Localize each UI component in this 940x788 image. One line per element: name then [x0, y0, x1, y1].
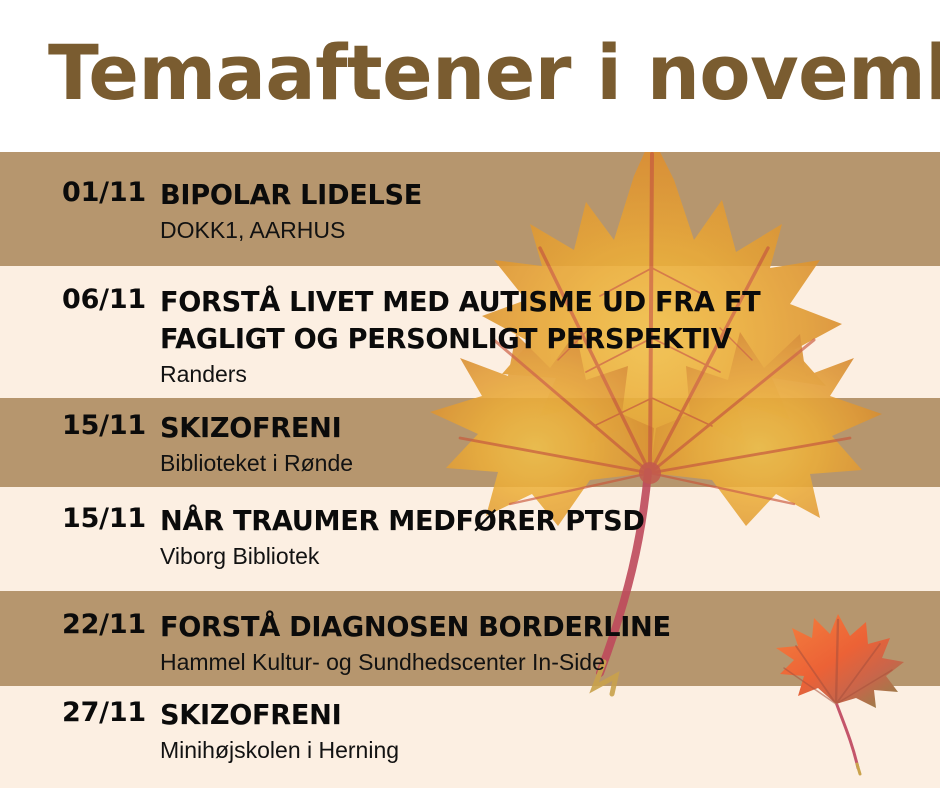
event-venue: DOKK1, AARHUS — [160, 215, 940, 246]
event-body: SKIZOFRENIMinihøjskolen i Herning — [160, 696, 940, 766]
page-title: Temaaftener i november — [48, 28, 940, 118]
event-venue: Biblioteket i Rønde — [160, 448, 940, 479]
schedule-row: 15/11NÅR TRAUMER MEDFØRER PTSDViborg Bib… — [0, 502, 940, 572]
event-date: 06/11 — [0, 283, 160, 317]
event-body: FORSTÅ LIVET MED AUTISME UD FRA ET FAGLI… — [160, 283, 940, 390]
schedule-row: 06/11FORSTÅ LIVET MED AUTISME UD FRA ET … — [0, 283, 940, 390]
event-title: SKIZOFRENI — [160, 696, 917, 733]
event-date: 22/11 — [0, 608, 160, 642]
schedule-row: 01/11BIPOLAR LIDELSEDOKK1, AARHUS — [0, 176, 940, 246]
event-body: FORSTÅ DIAGNOSEN BORDERLINEHammel Kultur… — [160, 608, 940, 678]
schedule-row: 27/11SKIZOFRENIMinihøjskolen i Herning — [0, 696, 940, 766]
event-title: NÅR TRAUMER MEDFØRER PTSD — [160, 502, 917, 539]
event-venue: Viborg Bibliotek — [160, 541, 940, 572]
event-venue: Hammel Kultur- og Sundhedscenter In-Side — [160, 647, 940, 678]
event-date: 15/11 — [0, 409, 160, 443]
schedule-row: 22/11FORSTÅ DIAGNOSEN BORDERLINEHammel K… — [0, 608, 940, 678]
header-band: Temaaftener i november — [0, 0, 940, 152]
event-body: NÅR TRAUMER MEDFØRER PTSDViborg Bibliote… — [160, 502, 940, 572]
event-date: 01/11 — [0, 176, 160, 210]
event-body: SKIZOFRENIBiblioteket i Rønde — [160, 409, 940, 479]
event-venue: Minihøjskolen i Herning — [160, 735, 940, 766]
event-title: BIPOLAR LIDELSE — [160, 176, 917, 213]
event-title: SKIZOFRENI — [160, 409, 917, 446]
event-title: FORSTÅ LIVET MED AUTISME UD FRA ET FAGLI… — [160, 283, 917, 357]
event-body: BIPOLAR LIDELSEDOKK1, AARHUS — [160, 176, 940, 246]
schedule-row: 15/11SKIZOFRENIBiblioteket i Rønde — [0, 409, 940, 479]
poster-canvas: Temaaftener i november 01/11BIPOLAR LIDE… — [0, 0, 940, 788]
event-date: 27/11 — [0, 696, 160, 730]
event-title: FORSTÅ DIAGNOSEN BORDERLINE — [160, 608, 917, 645]
event-date: 15/11 — [0, 502, 160, 536]
event-venue: Randers — [160, 359, 940, 390]
